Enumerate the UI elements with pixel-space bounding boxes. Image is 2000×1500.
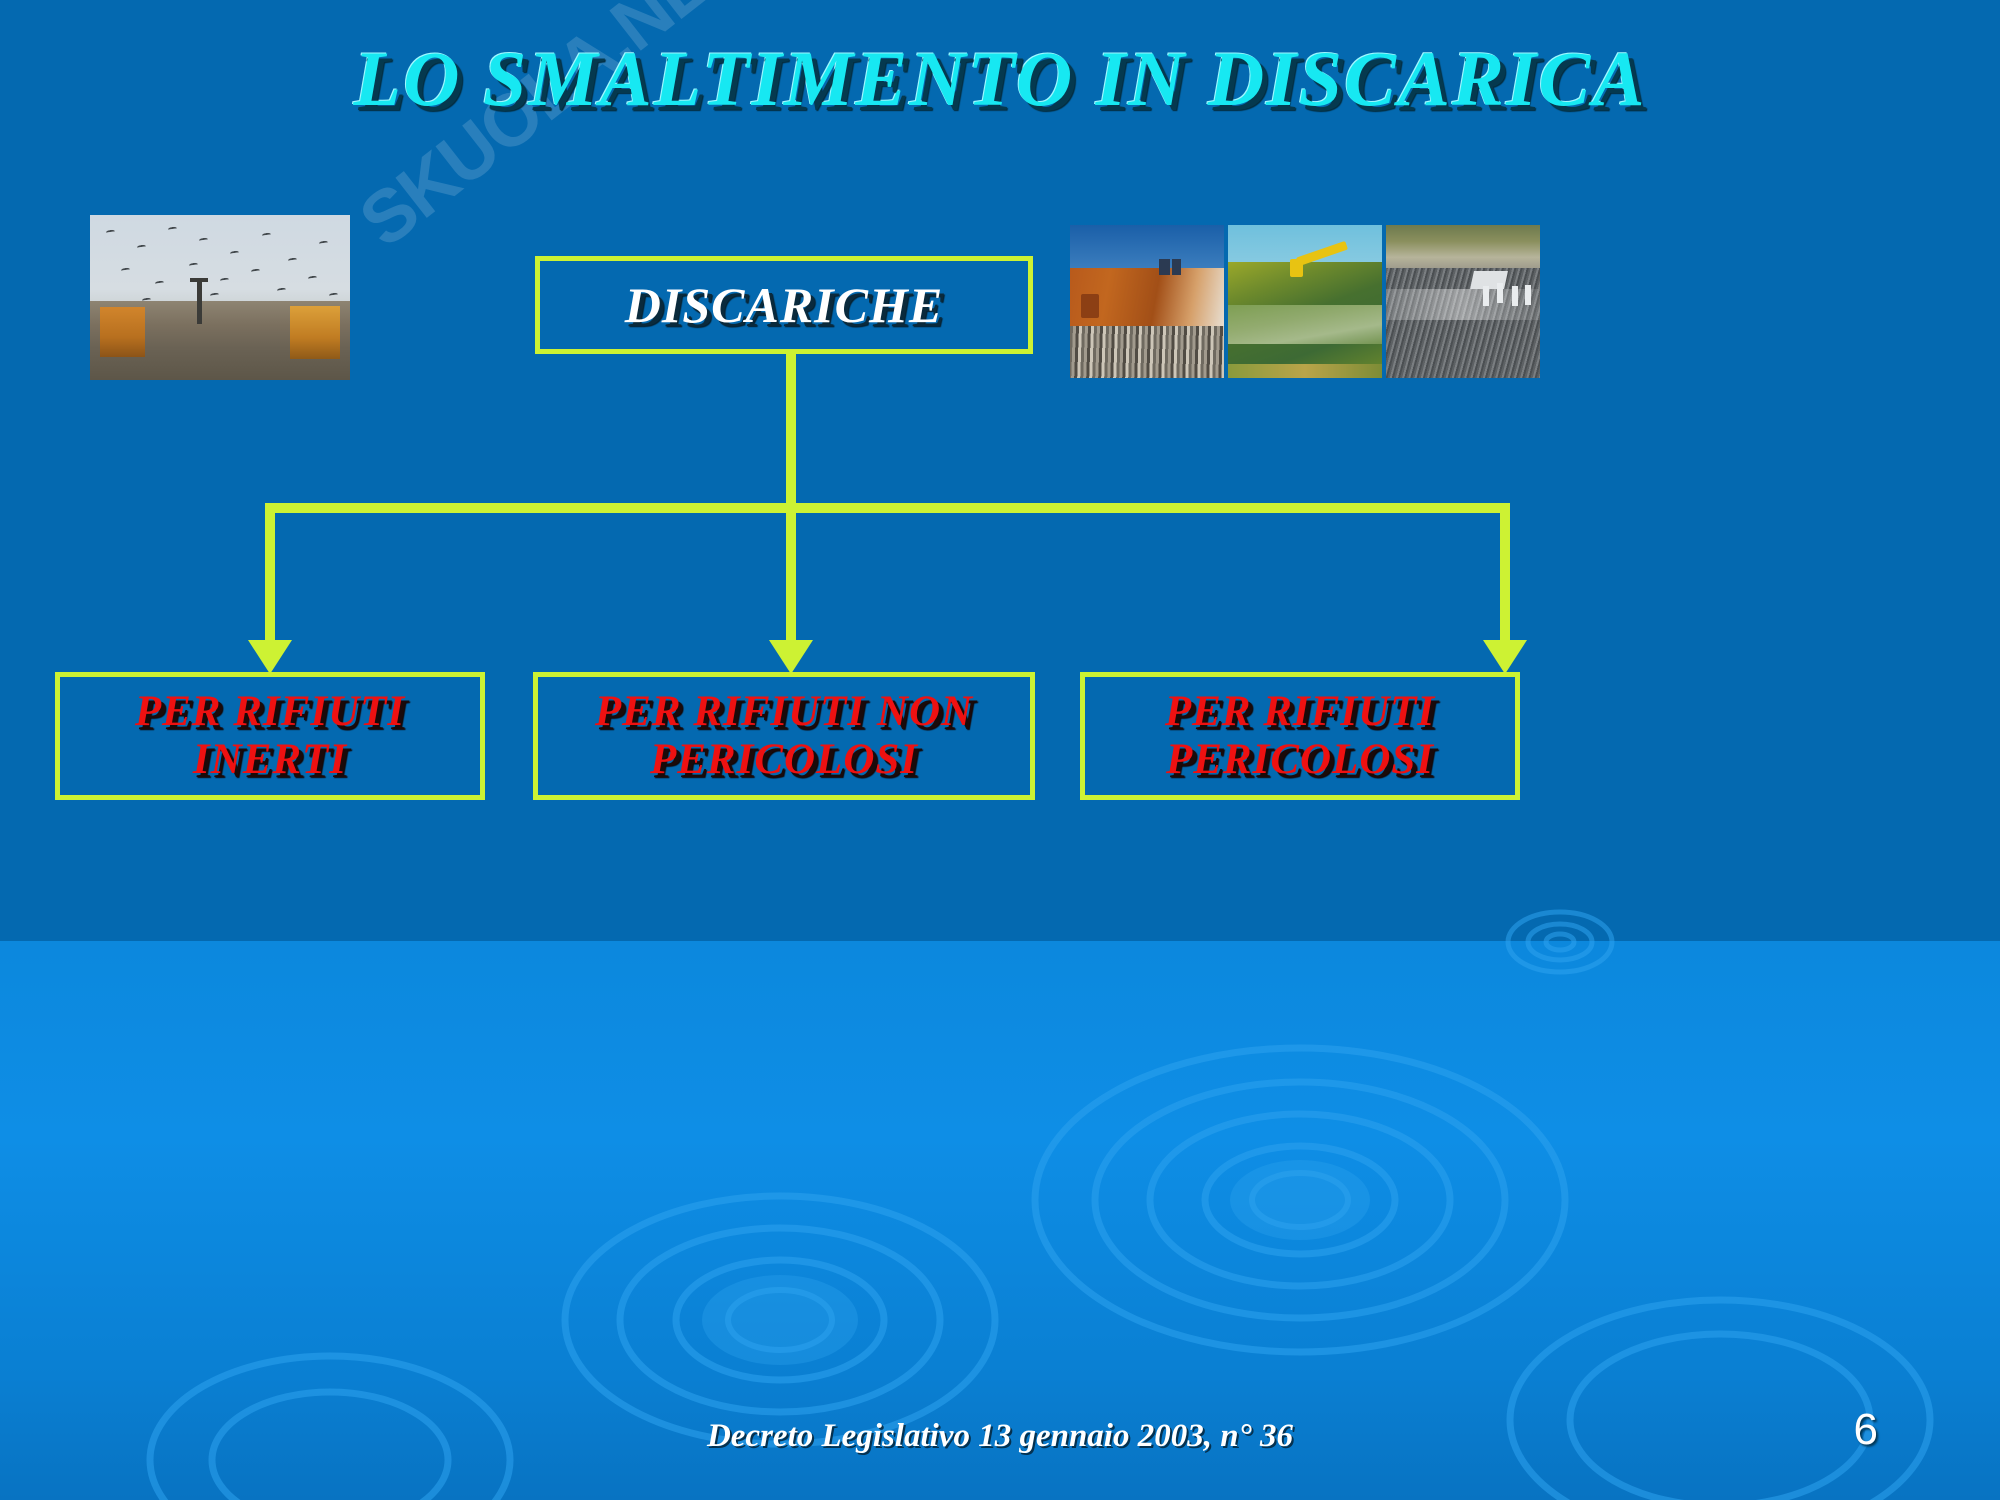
page-number: 6 <box>1854 1405 1878 1455</box>
landfill-construction-photo-strip <box>1070 225 1540 378</box>
diagram-node-hazardous-waste-label: PER RIFIUTI PERICOLOSI <box>1165 688 1435 784</box>
arrowhead-1 <box>248 640 292 674</box>
diagram-node-non-hazardous-waste: PER RIFIUTI NON PERICOLOSI <box>533 672 1035 800</box>
diagram-node-inert-waste: PER RIFIUTI INERTI <box>55 672 485 800</box>
liner-workers-photo <box>1386 225 1540 378</box>
diagram-node-root-label: DISCARICHE <box>625 277 943 333</box>
arrowhead-2 <box>769 640 813 674</box>
connector-branch-1 <box>265 503 275 643</box>
connector-branch-3 <box>1500 503 1510 643</box>
landfill-birds-photo <box>90 215 350 380</box>
landfill-slope-photo <box>1070 225 1224 378</box>
excavator-geomembrane-photo <box>1228 225 1382 378</box>
connector-horizontal-bus <box>265 503 1510 513</box>
water-ripple-decoration <box>0 900 2000 1500</box>
diagram-node-inert-waste-label: PER RIFIUTI INERTI <box>135 688 405 784</box>
diagram-node-root: DISCARICHE <box>535 256 1033 354</box>
arrowhead-3 <box>1483 640 1527 674</box>
footer-reference: Decreto Legislativo 13 gennaio 2003, n° … <box>0 1418 2000 1455</box>
connector-root-vertical <box>786 354 796 509</box>
diagram-node-non-hazardous-waste-label: PER RIFIUTI NON PERICOLOSI <box>595 688 973 784</box>
connector-branch-2 <box>786 503 796 643</box>
diagram-node-hazardous-waste: PER RIFIUTI PERICOLOSI <box>1080 672 1520 800</box>
slide-canvas: SKUOLA.NET LO SMALTIMENTO IN DISCARICA <box>0 0 2000 1500</box>
page-title: LO SMALTIMENTO IN DISCARICA <box>0 34 2000 124</box>
